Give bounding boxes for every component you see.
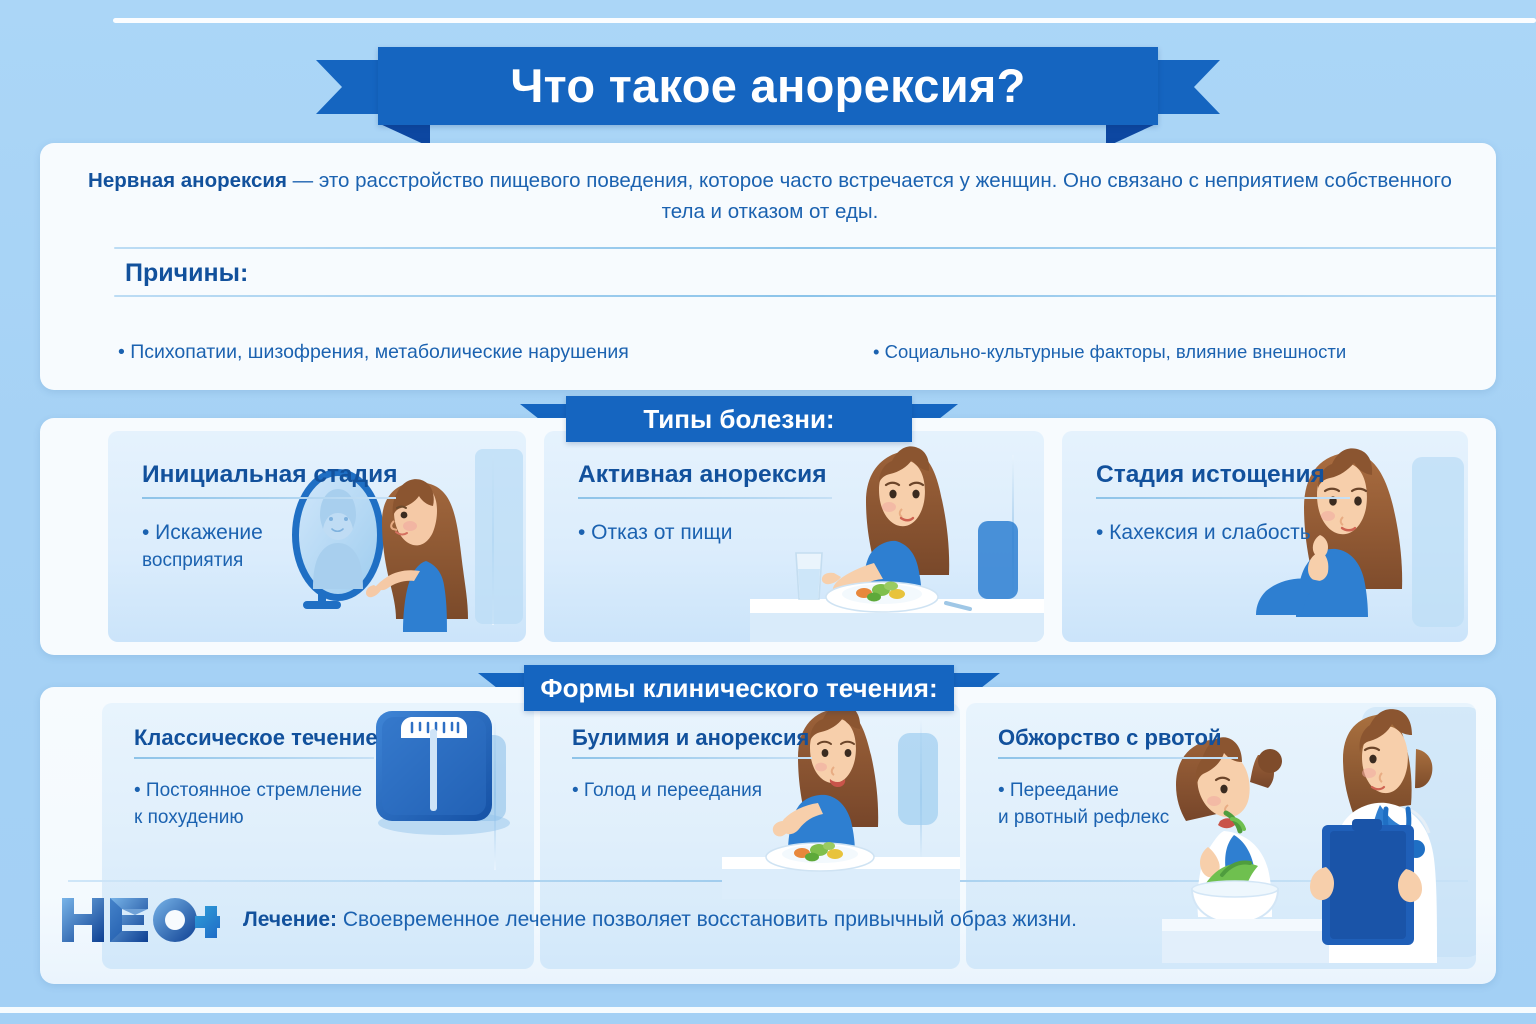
form-bullets: • Голод и переедания	[572, 777, 762, 804]
types-banner: Типы болезни:	[566, 396, 912, 442]
type-bullet: • Кахексия и слабость	[1096, 519, 1311, 547]
forms-banner-label: Формы клинического течения:	[524, 665, 954, 711]
cause-item: • Социально-культурные факторы, влияние …	[873, 341, 1346, 363]
intro-paragraph: Нервная анорексия — это расстройство пищ…	[85, 165, 1455, 227]
type-bullet: • Отказ от пищи	[578, 519, 732, 547]
form-heading: Булимия и анорексия	[572, 725, 809, 751]
top-stripe	[113, 18, 1536, 23]
heading-underline	[1096, 497, 1350, 499]
forms-column-divider	[920, 720, 922, 870]
heading-underline	[998, 757, 1238, 759]
types-banner-label: Типы болезни:	[566, 396, 912, 442]
forms-card: Классическое течение • Постоянное стремл…	[40, 687, 1496, 984]
type-bullets: • Искажение восприятия	[142, 519, 263, 575]
intro-divider-top	[114, 247, 1496, 249]
type-bullets: • Кахексия и слабость	[1096, 519, 1311, 547]
heading-underline	[134, 757, 374, 759]
title-ribbon: Что такое анорексия?	[378, 47, 1158, 125]
forms-banner: Формы клинического течения:	[524, 665, 954, 711]
causes-title: Причины:	[125, 259, 248, 288]
form-bullets: • Переедание и рвотный рефлекс	[998, 777, 1169, 831]
infographic-page: Что такое анорексия? Нервная анорексия —…	[0, 0, 1536, 1024]
form-bullet: • Голод и переедания	[572, 777, 762, 804]
intro-dash: —	[287, 169, 319, 192]
form-heading: Классическое течение	[134, 725, 378, 751]
page-title: Что такое анорексия?	[378, 47, 1158, 125]
neo-plus-logo: НЕО	[60, 894, 220, 946]
types-card: Инициальная стадия • Искажение восприяти…	[40, 418, 1496, 655]
type-bullets: • Отказ от пищи	[578, 519, 732, 547]
form-bullet: • Переедание	[998, 777, 1169, 804]
form-bullet-cont: к похудению	[134, 804, 362, 831]
forms-column-divider	[494, 720, 496, 870]
type-heading: Активная анорексия	[578, 461, 827, 489]
heading-underline	[572, 757, 812, 759]
form-bullets: • Постоянное стремление к похудению	[134, 777, 362, 831]
ribbon-tail-right	[1148, 60, 1220, 114]
type-heading: Инициальная стадия	[142, 461, 398, 489]
type-column-initial: Инициальная стадия • Искажение восприяти…	[108, 431, 526, 642]
type-heading: Стадия истощения	[1096, 461, 1325, 489]
type-column-active: Активная анорексия • Отказ от пищи	[544, 431, 1044, 642]
intro-card: Нервная анорексия — это расстройство пищ…	[40, 143, 1496, 390]
treatment-line: Лечение: Своевременное лечение позволяет…	[243, 908, 1077, 932]
intro-divider-bottom	[114, 295, 1496, 297]
intro-lead: Нервная анорексия	[88, 169, 287, 192]
form-heading: Обжорство с рвотой	[998, 725, 1222, 751]
heading-underline	[578, 497, 832, 499]
heading-underline	[142, 497, 396, 499]
type-column-cachexia: Стадия истощения • Кахексия и слабость	[1062, 431, 1468, 642]
type-bullet-cont: восприятия	[142, 547, 263, 575]
cause-item: • Психопатии, шизофрения, метаболические…	[118, 341, 629, 364]
intro-body: это расстройство пищевого поведения, кот…	[319, 169, 1452, 223]
treatment-label: Лечение:	[243, 908, 337, 931]
form-bullet-cont: и рвотный рефлекс	[998, 804, 1169, 831]
types-column-divider	[492, 455, 494, 625]
treatment-text: Своевременное лечение позволяет восстано…	[337, 908, 1077, 931]
type-bullet: • Искажение	[142, 519, 263, 547]
footer-divider	[68, 880, 1468, 882]
form-bullet: • Постоянное стремление	[134, 777, 362, 804]
types-column-divider	[1012, 455, 1014, 625]
bottom-stripe	[0, 1007, 1536, 1013]
